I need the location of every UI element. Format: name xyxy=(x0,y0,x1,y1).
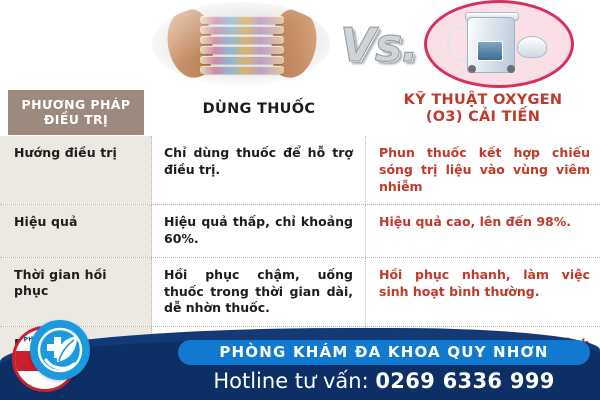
machine-screen xyxy=(477,41,503,61)
clinic-name-label: PHÒNG KHÁM ĐA KHOA QUY NHƠN xyxy=(178,340,590,365)
hotline-number[interactable]: 0269 6336 999 xyxy=(375,369,554,393)
oxygen-header-line2: (O3) CẢI TIẾN xyxy=(426,109,540,125)
hotline-label: Hotline tư vấn: xyxy=(213,369,368,393)
machine-wheel xyxy=(468,65,476,73)
table-row: Hiệu quả Hiệu quả thấp, chỉ khoảng 60%. … xyxy=(0,205,600,258)
hands-holding-pills-photo xyxy=(152,2,330,86)
row-label: Hướng điều trị xyxy=(0,136,152,204)
row-drug-value: Chỉ dùng thuốc để hỗ trợ điều trị. xyxy=(152,136,366,204)
medical-cross-leaf-icon xyxy=(30,320,90,380)
row-oxygen-value: Hiệu quả cao, lên đến 98%. xyxy=(366,205,600,257)
oxygen-header-line1: KỸ THUẬT OXYGEN xyxy=(404,92,563,108)
header-cell-oxygen: KỸ THUẬT OXYGEN (O3) CẢI TIẾN xyxy=(366,88,600,136)
clinic-logo[interactable]: PHÒNG KHÁM xyxy=(8,318,94,394)
header-cell-drug: DÙNG THUỐC xyxy=(152,88,366,136)
infographic-page: Vs. PHƯƠNG PHÁP ĐIỀU TRỊ DÙNG THUỐC KỸ T xyxy=(0,0,600,400)
table-row: Thời gian hồi phục Hồi phục chậm, uống t… xyxy=(0,258,600,327)
row-oxygen-value: Hồi phục nhanh, làm việc sinh hoạt bình … xyxy=(366,258,600,326)
criteria-header-line2: ĐIỀU TRỊ xyxy=(44,112,108,127)
criteria-header-badge: PHƯƠNG PHÁP ĐIỀU TRỊ xyxy=(8,90,144,135)
table-header-row: PHƯƠNG PHÁP ĐIỀU TRỊ DÙNG THUỐC KỸ THUẬT… xyxy=(0,88,600,136)
table-row: Hướng điều trị Chỉ dùng thuốc để hỗ trợ … xyxy=(0,136,600,205)
machine-wheel xyxy=(507,65,515,73)
row-oxygen-value: Phun thuốc kết hợp chiếu sóng trị liệu v… xyxy=(366,136,600,204)
machine-bowl-shape xyxy=(517,36,547,58)
criteria-header-line1: PHƯƠNG PHÁP xyxy=(22,97,131,112)
row-label: Hiệu quả xyxy=(0,205,152,257)
oxygen-machine-photo xyxy=(424,0,574,88)
hotline-line: Hotline tư vấn: 0269 6336 999 xyxy=(178,368,590,394)
hero-section: Vs. xyxy=(0,0,600,88)
header-cell-criteria: PHƯƠNG PHÁP ĐIỀU TRỊ xyxy=(0,88,152,136)
photo-gloss-overlay xyxy=(152,2,330,86)
row-drug-value: Hồi phục chậm, uống thuốc trong thời gia… xyxy=(152,258,366,326)
row-drug-value: Hiệu quả thấp, chỉ khoảng 60%. xyxy=(152,205,366,257)
versus-label: Vs. xyxy=(320,16,438,74)
row-label: Thời gian hồi phục xyxy=(0,258,152,326)
